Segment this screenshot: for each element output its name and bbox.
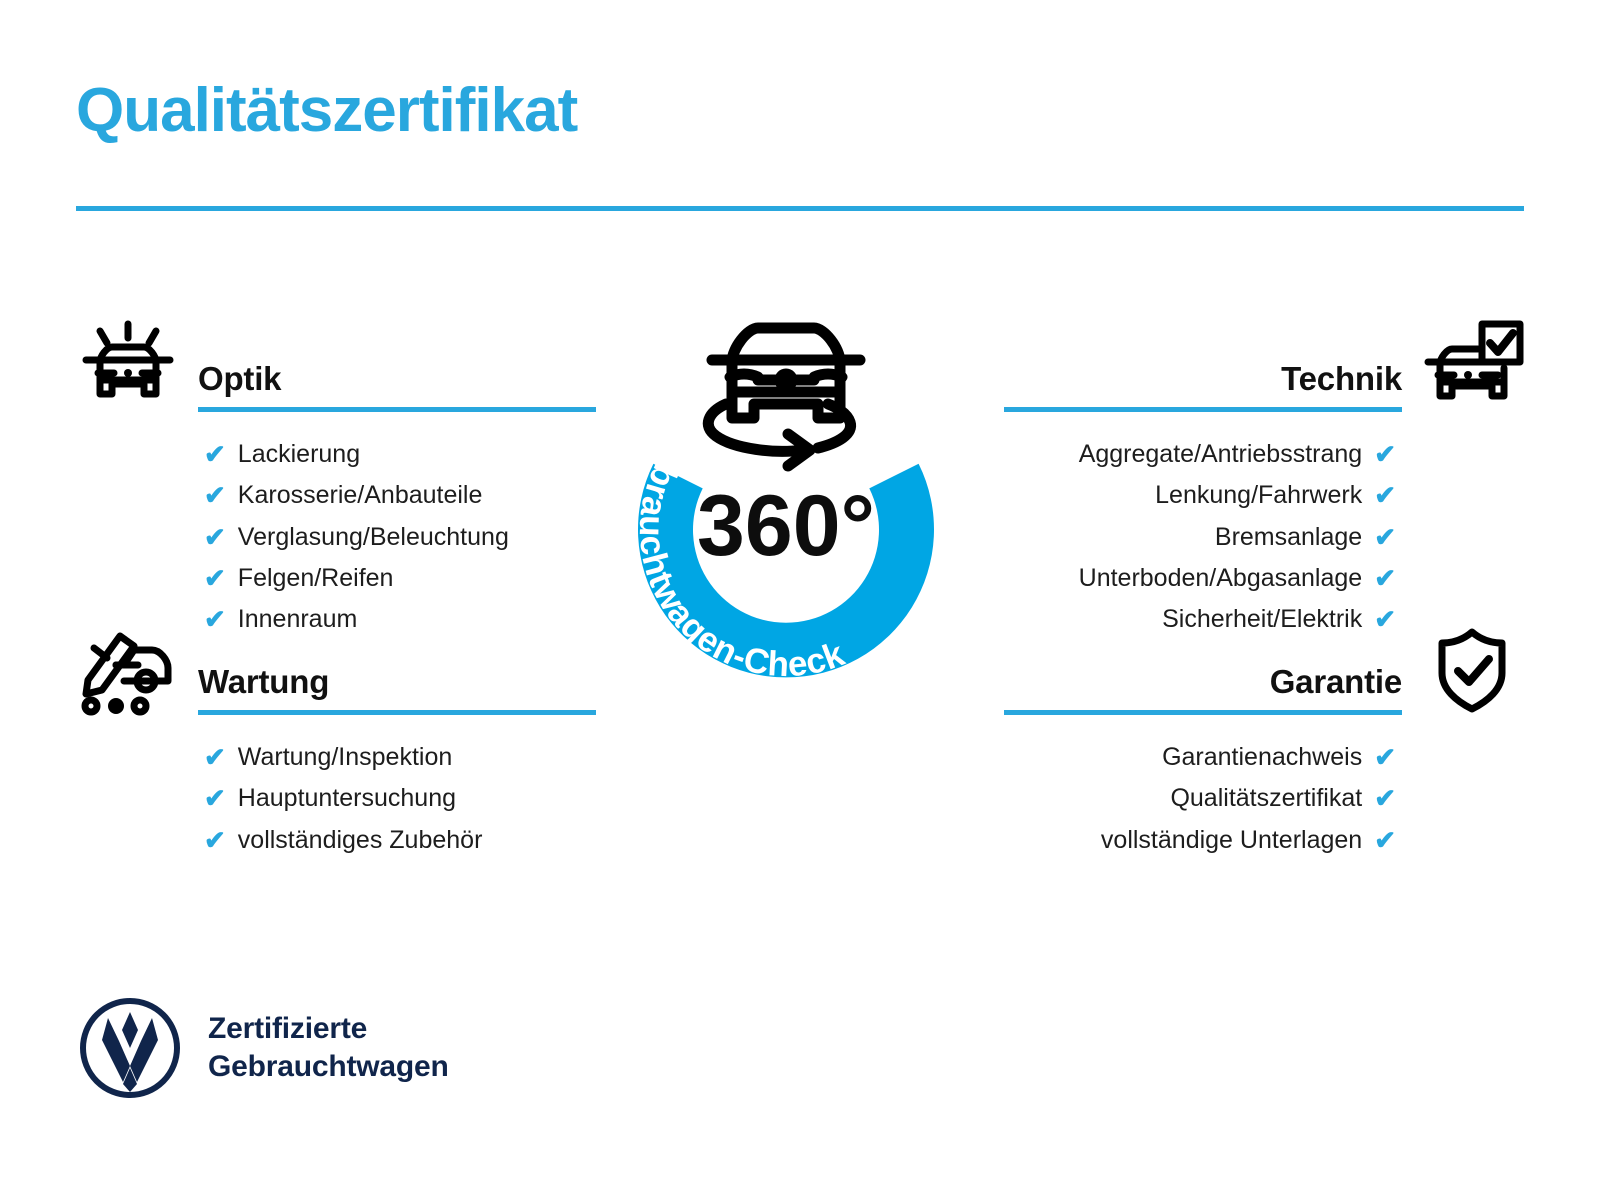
list-item-label: Lackierung bbox=[238, 436, 360, 472]
list-item: ✔Aggregate/Antriebsstrang bbox=[1004, 436, 1396, 472]
section-header-technik: Technik bbox=[1004, 318, 1524, 414]
list-item: ✔Bremsanlage bbox=[1004, 519, 1396, 555]
section-divider-optik bbox=[198, 407, 596, 412]
check-icon: ✔ bbox=[204, 827, 226, 853]
check-icon: ✔ bbox=[1374, 441, 1396, 467]
section-title-wartung: Wartung bbox=[198, 664, 596, 710]
list-item-label: Wartung/Inspektion bbox=[238, 739, 452, 775]
vw-lockup-line1: Zertifizierte bbox=[208, 1010, 449, 1048]
section-divider-technik bbox=[1004, 407, 1402, 412]
check-icon: ✔ bbox=[1374, 565, 1396, 591]
section-divider-garantie bbox=[1004, 710, 1402, 715]
check-icon: ✔ bbox=[204, 565, 226, 591]
check-icon: ✔ bbox=[204, 744, 226, 770]
list-item-label: vollständige Unterlagen bbox=[1101, 822, 1362, 858]
list-item: ✔Lenkung/Fahrwerk bbox=[1004, 477, 1396, 513]
section-optik: Optik ✔Lackierung ✔Karosserie/Anbauteile… bbox=[76, 318, 596, 642]
checklist-garantie: ✔Garantienachweis ✔Qualitätszertifikat ✔… bbox=[1004, 717, 1524, 858]
list-item: ✔Verglasung/Beleuchtung bbox=[204, 519, 596, 555]
check-icon: ✔ bbox=[204, 482, 226, 508]
vw-logo-icon bbox=[78, 996, 182, 1100]
checklist-optik: ✔Lackierung ✔Karosserie/Anbauteile ✔Verg… bbox=[76, 414, 596, 637]
list-item-label: Aggregate/Antriebsstrang bbox=[1079, 436, 1363, 472]
car-rotate-icon bbox=[708, 328, 860, 466]
list-item: ✔vollständige Unterlagen bbox=[1004, 822, 1396, 858]
checklist-technik: ✔Aggregate/Antriebsstrang ✔Lenkung/Fahrw… bbox=[1004, 414, 1524, 637]
list-item-label: Lenkung/Fahrwerk bbox=[1155, 477, 1362, 513]
section-title-wrap-optik: Optik bbox=[198, 361, 596, 414]
car-shine-icon bbox=[76, 320, 180, 414]
check-icon: ✔ bbox=[1374, 744, 1396, 770]
check-icon: ✔ bbox=[204, 441, 226, 467]
section-header-wartung: Wartung bbox=[76, 621, 596, 717]
list-item: ✔Wartung/Inspektion bbox=[204, 739, 596, 775]
section-title-garantie: Garantie bbox=[1004, 664, 1402, 710]
check-icon: ✔ bbox=[204, 524, 226, 550]
checklist-wartung: ✔Wartung/Inspektion ✔Hauptuntersuchung ✔… bbox=[76, 717, 596, 858]
shield-check-icon bbox=[1420, 623, 1524, 717]
car-checkbox-icon bbox=[1420, 320, 1524, 414]
list-item: ✔vollständiges Zubehör bbox=[204, 822, 596, 858]
page-title: Qualitätszertifikat bbox=[76, 78, 577, 143]
list-item-label: Qualitätszertifikat bbox=[1170, 780, 1362, 816]
list-item: ✔Karosserie/Anbauteile bbox=[204, 477, 596, 513]
section-technik: Technik ✔Aggregate/Antriebsstrang ✔Lenku… bbox=[1004, 318, 1524, 642]
vw-certified-lockup: Zertifizierte Gebrauchtwagen bbox=[78, 996, 449, 1100]
list-item-label: Garantienachweis bbox=[1162, 739, 1362, 775]
list-item: ✔Felgen/Reifen bbox=[204, 560, 596, 596]
list-item: ✔Unterboden/Abgasanlage bbox=[1004, 560, 1396, 596]
check-icon: ✔ bbox=[1374, 482, 1396, 508]
check-icon: ✔ bbox=[1374, 827, 1396, 853]
list-item: ✔Hauptuntersuchung bbox=[204, 780, 596, 816]
section-wartung: Wartung ✔Wartung/Inspektion ✔Hauptunters… bbox=[76, 621, 596, 863]
section-garantie: Garantie ✔Garantienachweis ✔Qualitätszer… bbox=[1004, 621, 1524, 863]
section-title-wrap-garantie: Garantie bbox=[1004, 664, 1402, 717]
vw-lockup-text: Zertifizierte Gebrauchtwagen bbox=[208, 1010, 449, 1086]
section-title-optik: Optik bbox=[198, 361, 596, 407]
vw-lockup-line2: Gebrauchtwagen bbox=[208, 1048, 449, 1086]
car-pencil-icon bbox=[76, 623, 180, 717]
list-item-label: Karosserie/Anbauteile bbox=[238, 477, 483, 513]
list-item: ✔Garantienachweis bbox=[1004, 739, 1396, 775]
check-icon: ✔ bbox=[1374, 524, 1396, 550]
list-item: ✔Qualitätszertifikat bbox=[1004, 780, 1396, 816]
section-title-technik: Technik bbox=[1004, 361, 1402, 407]
check-icon: ✔ bbox=[204, 785, 226, 811]
list-item: ✔Lackierung bbox=[204, 436, 596, 472]
section-title-wrap-technik: Technik bbox=[1004, 361, 1402, 414]
list-item-label: Felgen/Reifen bbox=[238, 560, 394, 596]
list-item-label: Bremsanlage bbox=[1215, 519, 1362, 555]
title-divider bbox=[76, 206, 1524, 211]
badge-360-check: Gebrauchtwagen-Check 360° bbox=[566, 300, 1006, 770]
check-icon: ✔ bbox=[1374, 785, 1396, 811]
section-divider-wartung bbox=[198, 710, 596, 715]
list-item-label: vollständiges Zubehör bbox=[238, 822, 483, 858]
section-title-wrap-wartung: Wartung bbox=[198, 664, 596, 717]
list-item-label: Unterboden/Abgasanlage bbox=[1079, 560, 1363, 596]
list-item-label: Verglasung/Beleuchtung bbox=[238, 519, 509, 555]
section-header-optik: Optik bbox=[76, 318, 596, 414]
list-item-label: Hauptuntersuchung bbox=[238, 780, 456, 816]
badge-center-label: 360° bbox=[697, 478, 875, 574]
section-header-garantie: Garantie bbox=[1004, 621, 1524, 717]
